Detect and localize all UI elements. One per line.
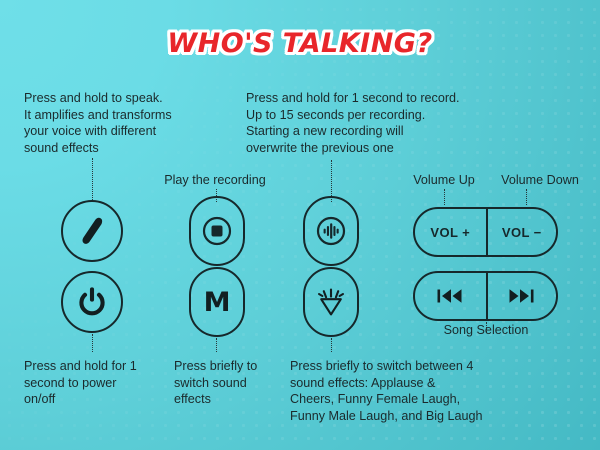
mode-button[interactable]: M bbox=[189, 267, 245, 337]
speak-button[interactable] bbox=[61, 200, 123, 262]
waveform-in-circle-icon bbox=[315, 215, 347, 247]
previous-track-button[interactable] bbox=[415, 273, 486, 319]
next-track-button[interactable] bbox=[486, 273, 557, 319]
previous-track-icon bbox=[435, 287, 465, 305]
song-selection-button-group[interactable] bbox=[413, 271, 558, 321]
letter-m-icon: M bbox=[204, 289, 231, 316]
caption-song-selection: Song Selection bbox=[405, 322, 567, 339]
stop-square-in-circle-icon bbox=[201, 215, 233, 247]
megaphone-icon bbox=[75, 214, 109, 248]
leader-line-effects bbox=[331, 338, 332, 352]
leader-line-speak bbox=[92, 158, 93, 200]
caption-play: Play the recording bbox=[130, 172, 300, 189]
volume-button-group[interactable]: VOL + VOL − bbox=[413, 207, 558, 257]
leader-line-mode bbox=[216, 338, 217, 352]
leader-line-power bbox=[92, 334, 93, 352]
play-recording-button[interactable] bbox=[189, 196, 245, 266]
power-icon bbox=[74, 284, 110, 320]
party-popper-icon bbox=[314, 285, 348, 319]
caption-record: Press and hold for 1 second to record. U… bbox=[246, 90, 536, 156]
power-button[interactable] bbox=[61, 271, 123, 333]
record-button[interactable] bbox=[303, 196, 359, 266]
volume-up-button[interactable]: VOL + bbox=[415, 209, 486, 255]
page-title: WHO'S TALKING? bbox=[0, 28, 600, 59]
caption-power: Press and hold for 1 second to power on/… bbox=[24, 358, 174, 408]
leader-line-volume-up bbox=[444, 189, 445, 205]
instruction-poster: WHO'S TALKING? Press and hold to speak. … bbox=[0, 0, 600, 450]
next-track-icon bbox=[507, 287, 537, 305]
volume-down-button[interactable]: VOL − bbox=[486, 209, 557, 255]
caption-effects: Press briefly to switch between 4 sound … bbox=[290, 358, 540, 424]
caption-volume-up: Volume Up bbox=[398, 172, 490, 189]
leader-line-volume-down bbox=[526, 189, 527, 205]
caption-speak: Press and hold to speak. It amplifies an… bbox=[24, 90, 239, 156]
caption-mode: Press briefly to switch sound effects bbox=[174, 358, 294, 408]
sound-effects-button[interactable] bbox=[303, 267, 359, 337]
caption-volume-down: Volume Down bbox=[490, 172, 590, 189]
